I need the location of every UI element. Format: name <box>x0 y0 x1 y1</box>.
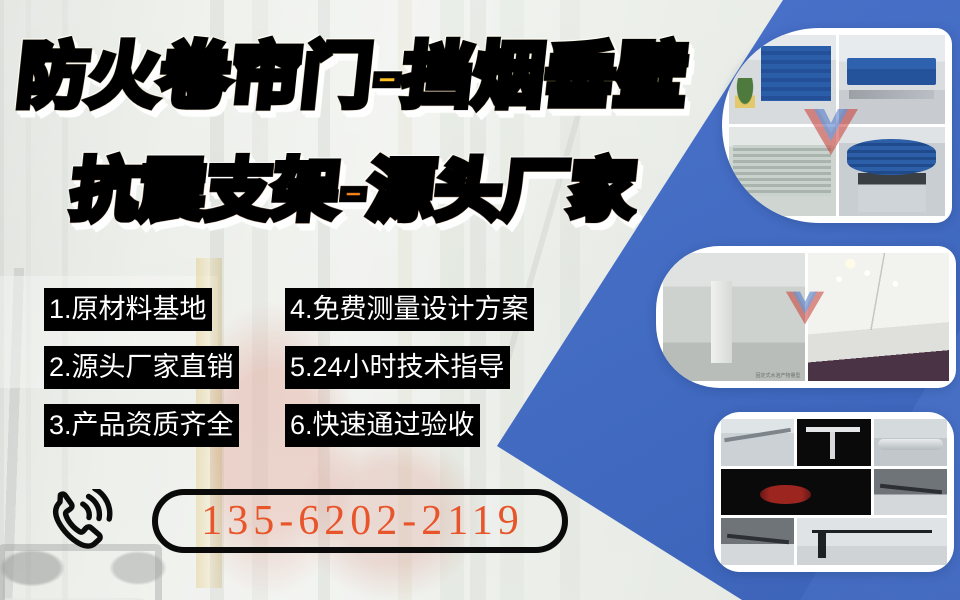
feature-list: 1.原材料基地 4.免费测量设计方案 2.源头厂家直销 5.24小时技术指导 3… <box>0 288 600 462</box>
photo-parking-garage: 固定式水泡产物量型 <box>663 253 805 381</box>
feature-item-2: 2.源头厂家直销 <box>44 346 239 389</box>
headline-primary-text: 防火卷帘门-挡烟垂壁 <box>14 36 691 116</box>
collage-grid <box>729 35 945 216</box>
collage-seismic-bracing <box>714 412 954 572</box>
photo-duct-brace-dark <box>797 419 870 466</box>
photo-ceiling-frame-brace <box>797 518 947 565</box>
feature-item-5: 5.24小时技术指导 <box>285 346 510 389</box>
collage-installation-sites: 固定式水泡产物量型 <box>656 246 956 388</box>
headline-secondary-text: 抗震支架-源头厂家 <box>68 152 641 230</box>
feature-row: 1.原材料基地 4.免费测量设计方案 <box>0 288 600 346</box>
photo-ceiling-pipe-brace <box>721 419 794 466</box>
banner-canvas: 防火卷帘门-挡烟垂壁 抗震支架-源头厂家 1.原材料基地 4.免费测量设计方案 … <box>0 0 960 600</box>
photo-roll-forming-machine <box>839 35 946 124</box>
feature-item-4: 4.免费测量设计方案 <box>285 288 534 331</box>
photo-fan-duct-brace <box>721 469 871 516</box>
photo-blue-rolling-fire-door <box>729 35 836 124</box>
phone-call-icon <box>44 489 120 561</box>
headline-primary: 防火卷帘门-挡烟垂壁 <box>14 36 691 116</box>
collage-grid <box>721 419 947 565</box>
feature-item-1: 1.原材料基地 <box>44 288 212 331</box>
phone-number-text: 135-6202-2119 <box>196 499 523 543</box>
collage-grid: 固定式水泡产物量型 <box>663 253 949 381</box>
feature-row: 2.源头厂家直销 5.24小时技术指导 <box>0 346 600 404</box>
collage-fire-shutter-doors <box>722 28 952 223</box>
feature-row: 3.产品资质齐全 6.快速通过验收 <box>0 404 600 462</box>
photo-caption: 固定式水泡产物量型 <box>755 372 800 379</box>
headline-secondary: 抗震支架-源头厂家 <box>68 152 641 230</box>
photo-pipe-clamp-brace <box>874 419 947 466</box>
photo-metal-rolling-shutter <box>729 127 836 216</box>
photo-cable-tray-brace-2 <box>721 518 794 565</box>
photo-suspended-ceiling <box>808 253 950 381</box>
feature-item-6: 6.快速通过验收 <box>285 404 480 447</box>
photo-cable-tray-brace <box>874 469 947 516</box>
photo-blue-coiled-roll <box>839 127 946 216</box>
feature-item-3: 3.产品资质齐全 <box>44 404 239 447</box>
phone-number-pill[interactable]: 135-6202-2119 <box>152 489 568 553</box>
